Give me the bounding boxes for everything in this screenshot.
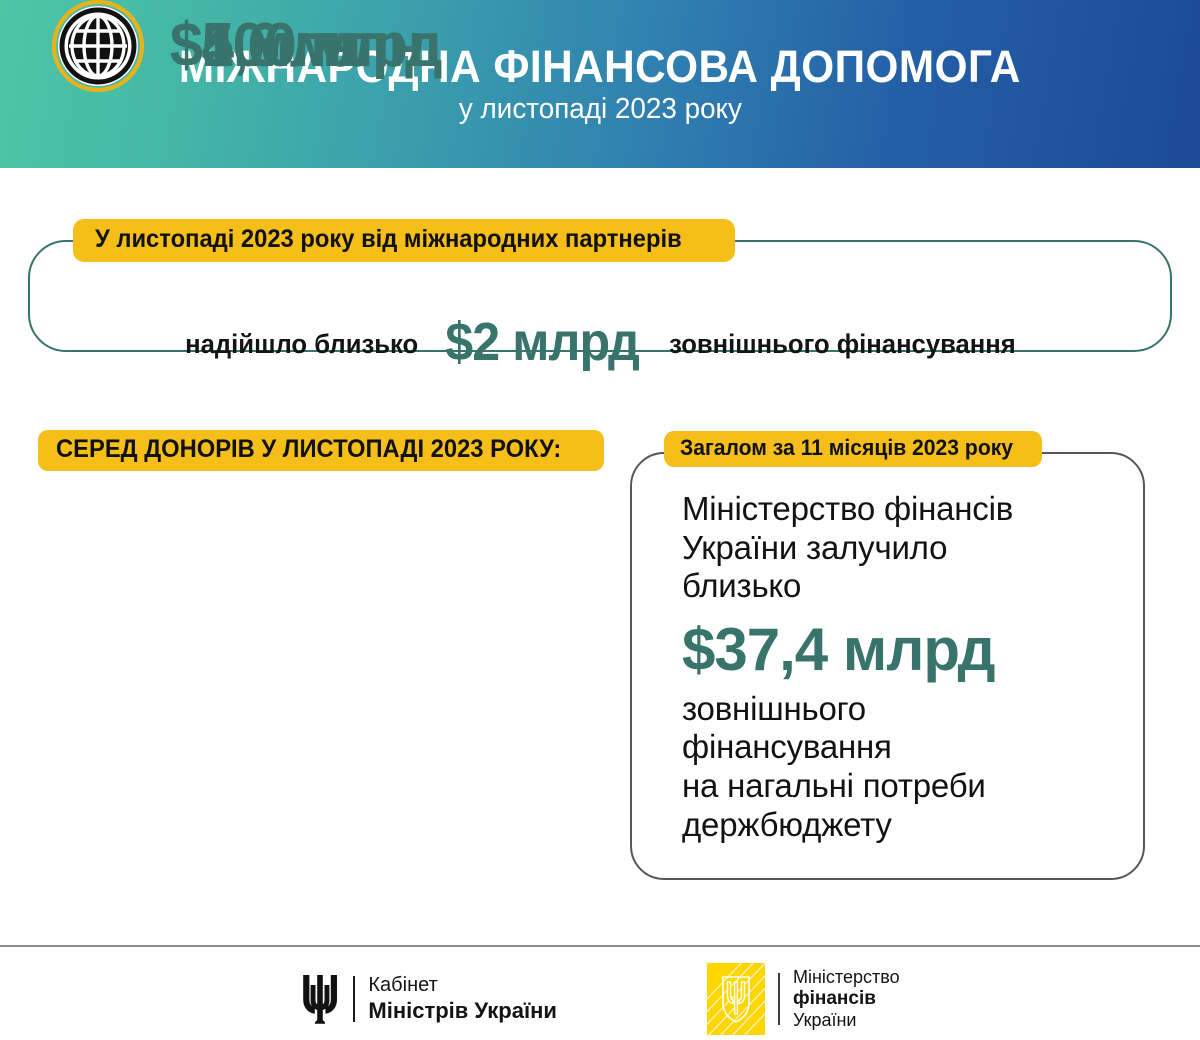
donors-badge: СЕРЕД ДОНОРІВ У ЛИСТОПАДІ 2023 РОКУ: bbox=[38, 430, 604, 471]
footer-divider bbox=[0, 945, 1200, 947]
mof-logo-line2: фінансів bbox=[793, 988, 900, 1010]
mof-logo-line3: України bbox=[793, 1010, 900, 1031]
mof-logo-text: Міністерство фінансів України bbox=[793, 967, 900, 1031]
cabinet-logo-text: Кабінет Міністрів України bbox=[368, 974, 557, 1024]
callout-text-after: зовнішнього фінансування bbox=[669, 329, 1016, 360]
cabinet-logo-line1: Кабінет bbox=[368, 974, 557, 998]
summary-panel: Міністерство фінансів України залучило б… bbox=[630, 452, 1145, 880]
summary-panel-badge: Загалом за 11 місяців 2023 року bbox=[664, 431, 1042, 467]
mof-shield-trident-icon bbox=[707, 963, 765, 1035]
mof-logo-line1: Міністерство bbox=[793, 967, 900, 988]
callout-badge: У листопаді 2023 року від міжнародних па… bbox=[73, 219, 735, 262]
world-bank-globe-icon bbox=[52, 0, 144, 92]
page-subtitle: у листопаді 2023 року bbox=[458, 95, 741, 124]
cabinet-of-ministers-logo: Кабінет Міністрів України bbox=[300, 971, 557, 1027]
ukraine-trident-icon bbox=[300, 971, 340, 1027]
logo-divider bbox=[778, 973, 780, 1025]
summary-panel-body: Міністерство фінансів України залучило б… bbox=[682, 490, 1122, 844]
summary-amount: $37,4 млрд bbox=[682, 617, 1122, 683]
logo-divider bbox=[353, 976, 355, 1022]
callout-text-before: надійшло близько bbox=[185, 329, 418, 360]
callout-sentence: надійшло близько $2 млрд зовнішнього фін… bbox=[30, 304, 1174, 366]
donor-amount: $5 млн bbox=[170, 15, 360, 77]
summary-panel-badge-label: Загалом за 11 місяців 2023 року bbox=[680, 436, 1013, 460]
ministry-of-finance-logo: Міністерство фінансів України bbox=[707, 963, 900, 1035]
footer: Кабінет Міністрів України bbox=[0, 958, 1200, 1040]
donor-row: $5 млн bbox=[52, 0, 370, 92]
callout-amount: $2 млрд bbox=[445, 311, 639, 373]
infographic-page: МІЖНАРОДНА ФІНАНСОВА ДОПОМОГА у листопад… bbox=[0, 0, 1200, 1040]
cabinet-logo-line2: Міністрів України bbox=[368, 998, 557, 1024]
donors-badge-label: СЕРЕД ДОНОРІВ У ЛИСТОПАДІ 2023 РОКУ: bbox=[56, 436, 561, 463]
callout-badge-label: У листопаді 2023 року від міжнародних па… bbox=[95, 226, 682, 253]
summary-text-bottom: зовнішнього фінансування на нагальні пот… bbox=[682, 690, 1122, 844]
summary-text-top: Міністерство фінансів України залучило б… bbox=[682, 490, 1122, 606]
